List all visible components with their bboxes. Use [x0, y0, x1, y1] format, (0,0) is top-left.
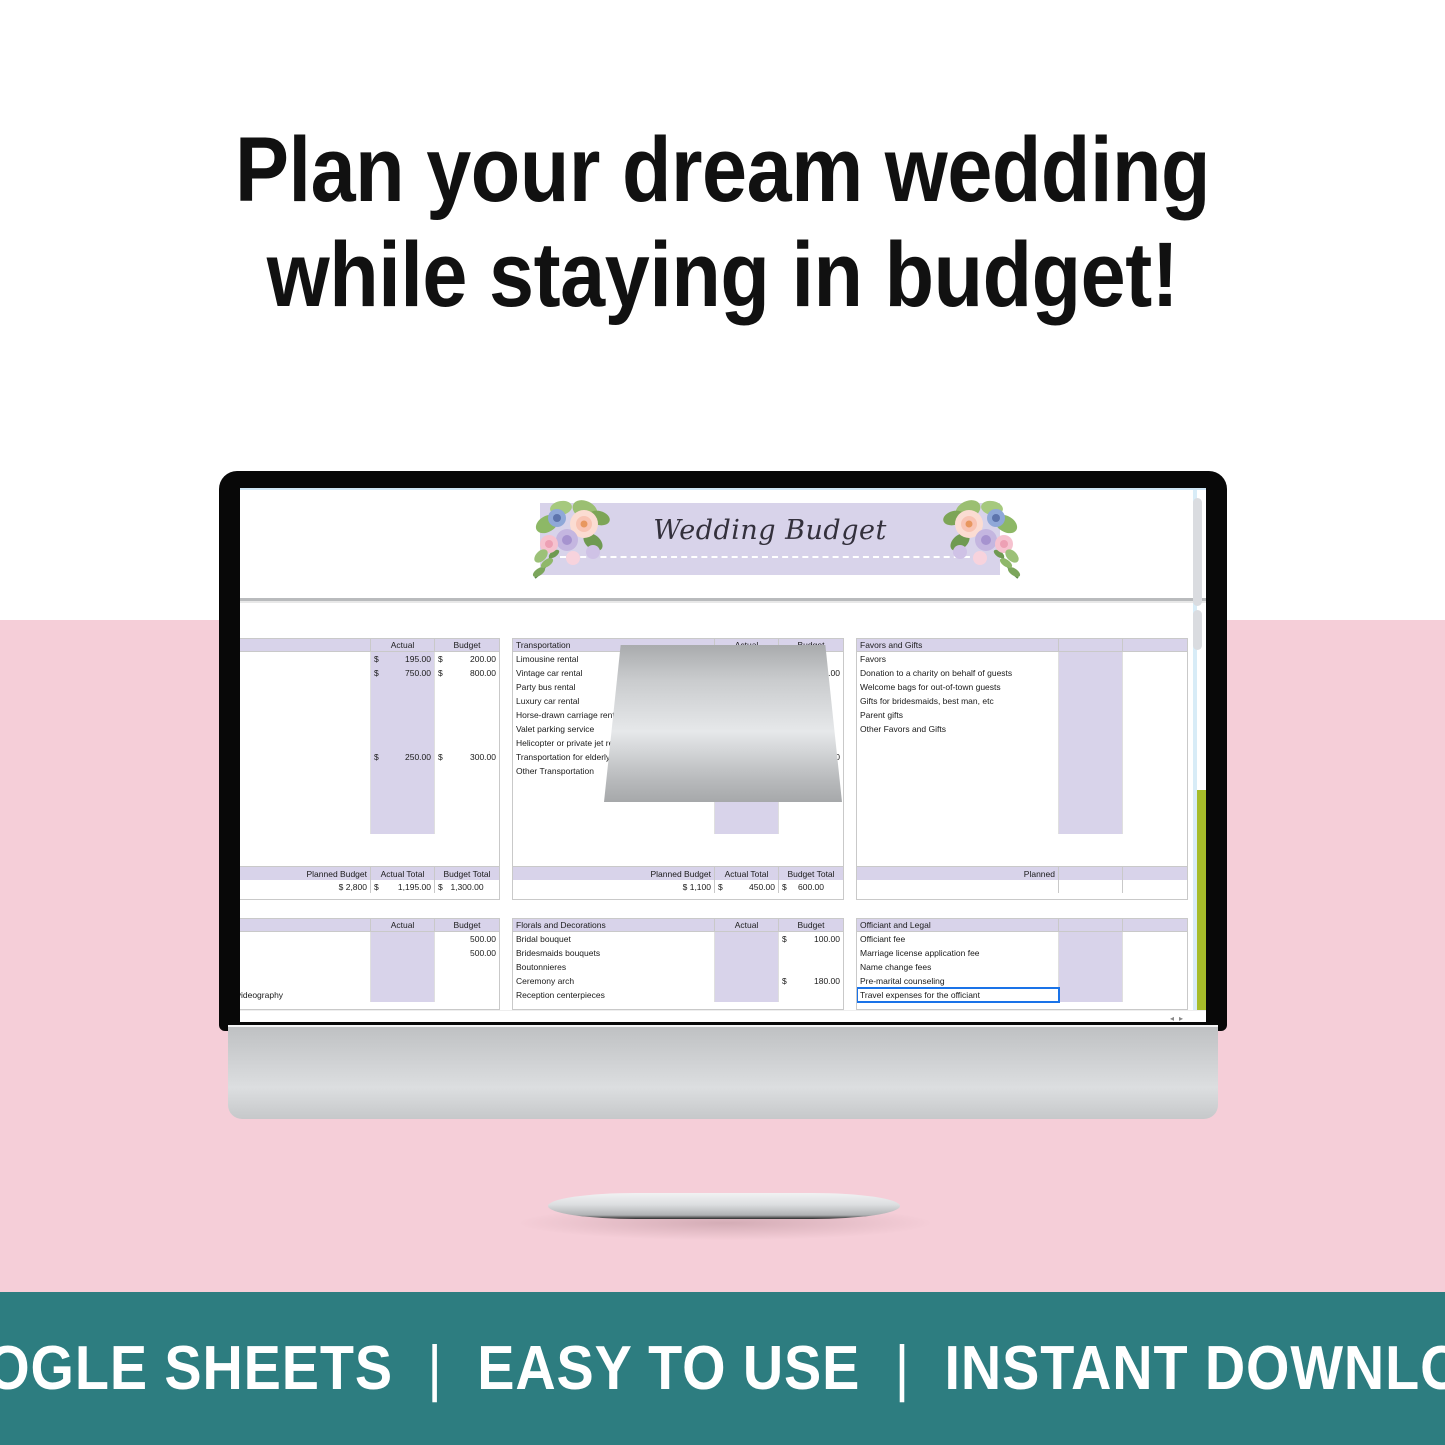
table-row[interactable]: [240, 736, 499, 750]
table-body[interactable]: $195.00$200.00dress$750.00$800.00hair ac…: [240, 652, 499, 866]
table-row[interactable]: Gifts for bridesmaids, best man, etc: [857, 694, 1187, 708]
row-budget-cell[interactable]: [779, 946, 843, 960]
row-label-cell[interactable]: p: [240, 722, 371, 736]
table-footer: Planned Budget Actual Total Budget Total…: [513, 866, 843, 893]
row-label-cell[interactable]: Boutonnieres: [513, 960, 715, 974]
row-actual-cell[interactable]: [1059, 960, 1123, 974]
table-row[interactable]: r photography or videography: [240, 988, 499, 1002]
floral-bouquet-right-icon: [940, 494, 1026, 586]
row-actual-cell[interactable]: $195.00: [371, 652, 435, 666]
row-label-cell[interactable]: Marriage license application fee: [857, 946, 1059, 960]
column-header-budget: [1123, 639, 1187, 651]
table-row[interactable]: [513, 806, 843, 820]
footer-value-budget-total: $1,300.00: [435, 880, 499, 893]
row-actual-cell[interactable]: [371, 960, 435, 974]
row-budget-cell[interactable]: [779, 820, 843, 834]
table-row[interactable]: Marriage license application fee: [857, 946, 1187, 960]
row-budget-cell[interactable]: [1123, 652, 1187, 666]
row-budget-cell[interactable]: [1123, 792, 1187, 806]
row-actual-cell[interactable]: [371, 680, 435, 694]
budget-table-officiant-and-legal[interactable]: Officiant and Legal Officiant feeMarriag…: [856, 918, 1188, 1010]
table-row[interactable]: [857, 792, 1187, 806]
row-label-cell[interactable]: [857, 806, 1059, 820]
row-actual-cell[interactable]: $250.00: [371, 750, 435, 764]
table-title: Videography: [240, 919, 371, 931]
row-label-cell[interactable]: [857, 820, 1059, 834]
row-budget-cell[interactable]: [1123, 708, 1187, 722]
row-label-cell[interactable]: Parent gifts: [857, 708, 1059, 722]
table-row[interactable]: 500.00: [240, 946, 499, 960]
bottom-banner-text: GOOGLE SHEETS | EASY TO USE | INSTANT DO…: [0, 1292, 1445, 1445]
row-label-cell[interactable]: [240, 736, 371, 750]
row-budget-cell[interactable]: [1123, 736, 1187, 750]
table-row[interactable]: Donation to a charity on behalf of guest…: [857, 666, 1187, 680]
row-actual-cell[interactable]: [715, 932, 779, 946]
budget-table-favors-and-gifts[interactable]: Favors and Gifts FavorsDonation to a cha…: [856, 638, 1188, 900]
table-row[interactable]: [240, 708, 499, 722]
table-row[interactable]: Welcome bags for out-of-town guests: [857, 680, 1187, 694]
vertical-scrollbar-thumb[interactable]: [1193, 498, 1202, 606]
footer-value-planned-budget: $ 2,800: [240, 880, 371, 893]
row-label-cell[interactable]: [240, 708, 371, 722]
row-actual-cell[interactable]: [371, 792, 435, 806]
green-column-marker: [1197, 790, 1206, 1022]
row-label-cell[interactable]: dress: [240, 666, 371, 680]
row-label-cell[interactable]: [240, 680, 371, 694]
row-budget-cell[interactable]: [1123, 750, 1187, 764]
row-actual-cell[interactable]: [1059, 932, 1123, 946]
table-footer: Planned Budget Actual Total Budget Total…: [240, 866, 499, 893]
column-header-budget: Budget: [779, 919, 843, 931]
row-budget-cell[interactable]: [1123, 820, 1187, 834]
row-budget-cell[interactable]: [435, 988, 499, 1002]
row-label-cell[interactable]: Bridesmaids bouquets: [513, 946, 715, 960]
row-budget-cell[interactable]: [1123, 946, 1187, 960]
headline-line-1: Plan your dream wedding: [87, 118, 1359, 223]
row-budget-cell[interactable]: [779, 988, 843, 1002]
table-footer: Planned: [857, 866, 1187, 893]
row-actual-cell[interactable]: [371, 946, 435, 960]
column-header-actual: Actual: [371, 919, 435, 931]
row-actual-cell[interactable]: [371, 722, 435, 736]
row-budget-cell[interactable]: [1123, 778, 1187, 792]
row-label-cell[interactable]: [240, 750, 371, 764]
column-header-budget: Budget: [435, 639, 499, 651]
row-budget-cell[interactable]: [435, 764, 499, 778]
row-label-cell[interactable]: [240, 946, 371, 960]
scroll-arrows-icon[interactable]: ◂▸: [1170, 1014, 1188, 1022]
row-actual-cell[interactable]: [371, 988, 435, 1002]
banner-segment-2: EASY TO USE: [472, 1334, 866, 1403]
row-actual-cell[interactable]: [1059, 764, 1123, 778]
row-actual-cell[interactable]: [371, 778, 435, 792]
banner-segment-1: GOOGLE SHEETS: [0, 1334, 399, 1403]
row-label-cell[interactable]: [857, 792, 1059, 806]
row-label-cell[interactable]: Name change fees: [857, 960, 1059, 974]
row-label-cell[interactable]: s attire: [240, 778, 371, 792]
row-label-cell[interactable]: [857, 778, 1059, 792]
monitor-stand-neck: [604, 645, 842, 802]
footer-value-actual-total: $1,195.00: [371, 880, 435, 893]
row-budget-cell[interactable]: [435, 722, 499, 736]
table-row[interactable]: albums: [240, 960, 499, 974]
table-row[interactable]: s attire: [240, 778, 499, 792]
row-label-cell[interactable]: [240, 764, 371, 778]
vertical-scrollbar-thumb-secondary[interactable]: [1193, 610, 1202, 650]
row-budget-cell[interactable]: [435, 960, 499, 974]
table-row[interactable]: [857, 736, 1187, 750]
bottom-banner-inner: GOOGLE SHEETS | EASY TO USE | INSTANT DO…: [0, 1333, 1445, 1404]
row-label-cell[interactable]: me or cologne: [240, 792, 371, 806]
row-budget-cell[interactable]: [435, 736, 499, 750]
row-budget-cell[interactable]: 500.00: [435, 932, 499, 946]
table-header-row: Videography Actual Budget: [240, 919, 499, 932]
row-actual-cell[interactable]: [1059, 666, 1123, 680]
row-budget-cell[interactable]: $180.00: [779, 974, 843, 988]
table-row[interactable]: Favors: [857, 652, 1187, 666]
footer-label-planned-budget: Planned: [857, 867, 1059, 880]
banner-separator-1: |: [415, 1334, 456, 1403]
table-body[interactable]: FavorsDonation to a charity on behalf of…: [857, 652, 1187, 866]
row-budget-cell[interactable]: [1123, 680, 1187, 694]
table-row[interactable]: [240, 764, 499, 778]
row-actual-cell[interactable]: [1059, 736, 1123, 750]
table-row[interactable]: [857, 778, 1187, 792]
row-budget-cell[interactable]: [435, 708, 499, 722]
footer-label-planned-budget: Planned Budget: [513, 867, 715, 880]
row-label-cell[interactable]: Gifts for bridesmaids, best man, etc: [857, 694, 1059, 708]
row-label-cell[interactable]: Bridal bouquet: [513, 932, 715, 946]
table-row[interactable]: Bridal bouquet$100.00: [513, 932, 843, 946]
row-budget-cell[interactable]: [1123, 722, 1187, 736]
row-budget-cell[interactable]: [1123, 960, 1187, 974]
table-title: Florals and Decorations: [513, 919, 715, 931]
column-header-actual: [1059, 919, 1123, 931]
row-actual-cell[interactable]: [371, 974, 435, 988]
row-actual-cell[interactable]: [371, 820, 435, 834]
row-label-cell[interactable]: Ceremony arch: [513, 974, 715, 988]
table-row[interactable]: [857, 820, 1187, 834]
row-label-cell[interactable]: ng: [240, 806, 371, 820]
table-row[interactable]: Officiant fee: [857, 932, 1187, 946]
banner-segment-3: INSTANT DOWNLOAD: [939, 1334, 1445, 1403]
column-header-budget: [1123, 919, 1187, 931]
table-row[interactable]: Pre-marital counseling: [857, 974, 1187, 988]
row-actual-cell[interactable]: [371, 932, 435, 946]
footer-label-budget-total: Budget Total: [779, 867, 843, 880]
row-actual-cell[interactable]: [715, 960, 779, 974]
row-actual-cell[interactable]: [715, 988, 779, 1002]
table-row[interactable]: auty: [240, 820, 499, 834]
monitor-chin: [228, 1027, 1218, 1119]
footer-value-actual-total: [1059, 880, 1123, 893]
row-label-cell[interactable]: Reception centerpieces: [513, 988, 715, 1002]
table-row[interactable]: $250.00$300.00: [240, 750, 499, 764]
column-header-actual: Actual: [715, 919, 779, 931]
monitor-stand-base: [548, 1193, 900, 1219]
row-label-cell[interactable]: [857, 736, 1059, 750]
table-row[interactable]: Other Favors and Gifts: [857, 722, 1187, 736]
row-label-cell[interactable]: [513, 806, 715, 820]
budget-table-attire[interactable]: Attire and Beauty Actual Budget $195.00$…: [240, 638, 500, 900]
footer-value-planned-budget: [857, 880, 1059, 893]
table-header-row: Officiant and Legal: [857, 919, 1187, 932]
row-label-cell[interactable]: Officiant fee: [857, 932, 1059, 946]
frozen-row-divider-shadow: [240, 601, 1206, 603]
row-actual-cell[interactable]: [371, 736, 435, 750]
table-header-row: Attire and Beauty Actual Budget: [240, 639, 499, 652]
row-budget-cell[interactable]: [435, 694, 499, 708]
row-budget-cell[interactable]: [435, 806, 499, 820]
table-header-row: Favors and Gifts: [857, 639, 1187, 652]
footer-label-actual-total: [1059, 867, 1123, 880]
row-actual-cell[interactable]: [371, 694, 435, 708]
table-row[interactable]: 500.00: [240, 932, 499, 946]
row-actual-cell[interactable]: [715, 820, 779, 834]
table-row[interactable]: [857, 764, 1187, 778]
row-actual-cell[interactable]: [1059, 750, 1123, 764]
table-row[interactable]: ng: [240, 806, 499, 820]
row-actual-cell[interactable]: [1059, 806, 1123, 820]
table-row[interactable]: Travel expenses for the officiant: [857, 988, 1187, 1002]
row-budget-cell[interactable]: $800.00: [435, 666, 499, 680]
table-row[interactable]: [240, 974, 499, 988]
row-budget-cell[interactable]: [1123, 694, 1187, 708]
row-budget-cell[interactable]: 500.00: [435, 946, 499, 960]
row-budget-cell[interactable]: [1123, 974, 1187, 988]
row-budget-cell[interactable]: [435, 680, 499, 694]
row-label-cell[interactable]: Welcome bags for out-of-town guests: [857, 680, 1059, 694]
row-budget-cell[interactable]: $300.00: [435, 750, 499, 764]
table-row[interactable]: [240, 680, 499, 694]
row-label-cell[interactable]: [240, 974, 371, 988]
row-actual-cell[interactable]: [1059, 778, 1123, 792]
footer-label-budget-total: [1123, 867, 1187, 880]
row-actual-cell[interactable]: [371, 764, 435, 778]
table-row[interactable]: Parent gifts: [857, 708, 1187, 722]
table-row[interactable]: dress$750.00$800.00: [240, 666, 499, 680]
row-budget-cell[interactable]: [435, 974, 499, 988]
row-actual-cell[interactable]: [371, 708, 435, 722]
floral-bouquet-left-icon: [527, 494, 613, 586]
row-label-cell[interactable]: Travel expenses for the officiant: [857, 988, 1059, 1002]
banner-separator-2: |: [882, 1334, 923, 1403]
row-actual-cell[interactable]: [1059, 820, 1123, 834]
budget-table-florals-and-decorations[interactable]: Florals and Decorations Actual Budget Br…: [512, 918, 844, 1010]
row-label-cell[interactable]: [240, 932, 371, 946]
row-label-cell[interactable]: [513, 820, 715, 834]
row-label-cell[interactable]: Donation to a charity on behalf of guest…: [857, 666, 1059, 680]
table-row[interactable]: Bridesmaids bouquets: [513, 946, 843, 960]
table-row[interactable]: Reception centerpieces: [513, 988, 843, 1002]
footer-value-budget-total: $600.00: [779, 880, 843, 893]
table-row[interactable]: Ceremony arch$180.00: [513, 974, 843, 988]
row-actual-cell[interactable]: [715, 946, 779, 960]
row-budget-cell[interactable]: $100.00: [779, 932, 843, 946]
row-label-cell[interactable]: [857, 750, 1059, 764]
row-actual-cell[interactable]: [1059, 974, 1123, 988]
row-label-cell[interactable]: albums: [240, 960, 371, 974]
row-budget-cell[interactable]: [779, 806, 843, 820]
table-body[interactable]: Officiant feeMarriage license applicatio…: [857, 932, 1187, 1002]
row-label-cell[interactable]: r photography or videography: [240, 988, 371, 1002]
sheet-bottom-bar: ◂▸: [240, 1010, 1206, 1022]
row-budget-cell[interactable]: [435, 792, 499, 806]
table-title: Attire and Beauty: [240, 639, 371, 651]
row-budget-cell[interactable]: [1123, 666, 1187, 680]
table-row[interactable]: me or cologne: [240, 792, 499, 806]
table-row[interactable]: Name change fees: [857, 960, 1187, 974]
table-row[interactable]: Boutonnieres: [513, 960, 843, 974]
page-headline: Plan your dream wedding while staying in…: [87, 118, 1359, 328]
footer-label-planned-budget: Planned Budget: [240, 867, 371, 880]
row-actual-cell[interactable]: [1059, 652, 1123, 666]
row-label-cell[interactable]: [240, 652, 371, 666]
row-budget-cell[interactable]: [1123, 988, 1187, 1002]
row-actual-cell[interactable]: [1059, 722, 1123, 736]
row-actual-cell[interactable]: [715, 974, 779, 988]
table-row[interactable]: [857, 750, 1187, 764]
row-budget-cell[interactable]: [1123, 806, 1187, 820]
table-body[interactable]: Bridal bouquet$100.00Bridesmaids bouquet…: [513, 932, 843, 1002]
table-header-row: Florals and Decorations Actual Budget: [513, 919, 843, 932]
row-label-cell[interactable]: Favors: [857, 652, 1059, 666]
table-row[interactable]: $195.00$200.00: [240, 652, 499, 666]
row-actual-cell[interactable]: $750.00: [371, 666, 435, 680]
table-row[interactable]: hair accessories: [240, 694, 499, 708]
budget-table-photography-videography[interactable]: Videography Actual Budget 500.00500.00al…: [240, 918, 500, 1010]
row-label-cell[interactable]: Pre-marital counseling: [857, 974, 1059, 988]
table-row[interactable]: p: [240, 722, 499, 736]
row-actual-cell[interactable]: [1059, 680, 1123, 694]
row-label-cell[interactable]: auty: [240, 820, 371, 834]
table-title: Favors and Gifts: [857, 639, 1059, 651]
footer-label-actual-total: Actual Total: [715, 867, 779, 880]
row-budget-cell[interactable]: [779, 960, 843, 974]
row-actual-cell[interactable]: [1059, 792, 1123, 806]
row-budget-cell[interactable]: [1123, 764, 1187, 778]
footer-value-actual-total: $450.00: [715, 880, 779, 893]
table-row[interactable]: [857, 806, 1187, 820]
headline-line-2: while staying in budget!: [87, 223, 1359, 328]
table-row[interactable]: [513, 820, 843, 834]
row-actual-cell[interactable]: [1059, 708, 1123, 722]
row-budget-cell[interactable]: $200.00: [435, 652, 499, 666]
column-header-budget: Budget: [435, 919, 499, 931]
row-label-cell[interactable]: [857, 764, 1059, 778]
footer-value-budget-total: [1123, 880, 1187, 893]
row-budget-cell[interactable]: [435, 820, 499, 834]
row-budget-cell[interactable]: [435, 778, 499, 792]
row-label-cell[interactable]: Other Favors and Gifts: [857, 722, 1059, 736]
footer-label-budget-total: Budget Total: [435, 867, 499, 880]
column-header-actual: Actual: [371, 639, 435, 651]
row-actual-cell[interactable]: [371, 806, 435, 820]
row-actual-cell[interactable]: [1059, 946, 1123, 960]
table-title: Officiant and Legal: [857, 919, 1059, 931]
row-actual-cell[interactable]: [1059, 694, 1123, 708]
table-body[interactable]: 500.00500.00albumsr photography or video…: [240, 932, 499, 1002]
footer-value-planned-budget: $ 1,100: [513, 880, 715, 893]
row-actual-cell[interactable]: [1059, 988, 1123, 1002]
row-actual-cell[interactable]: [715, 806, 779, 820]
spreadsheet-header-area: Wedding Budget: [240, 490, 1206, 598]
footer-label-actual-total: Actual Total: [371, 867, 435, 880]
row-label-cell[interactable]: hair accessories: [240, 694, 371, 708]
row-budget-cell[interactable]: [1123, 932, 1187, 946]
column-header-actual: [1059, 639, 1123, 651]
